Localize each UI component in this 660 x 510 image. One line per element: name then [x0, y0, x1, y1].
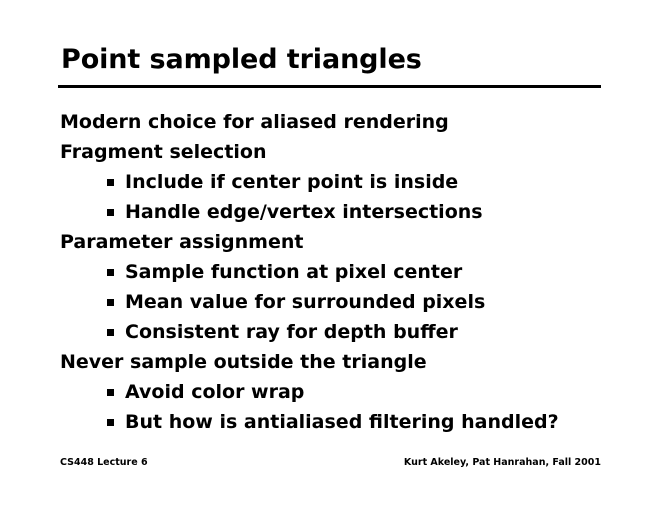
body-item-level1: Parameter assignment — [0, 227, 660, 257]
slide-canvas: Point sampled triangles Modern choice fo… — [0, 0, 660, 510]
bullet-square-icon — [107, 269, 114, 276]
footer-lecture-label: CS448 Lecture 6 — [60, 455, 148, 471]
bullet-square-icon — [107, 419, 114, 426]
body-item-level2: Handle edge/vertex intersections — [0, 197, 660, 227]
bullet-square-icon — [107, 389, 114, 396]
slide-title: Point sampled triangles — [61, 43, 422, 77]
bullet-square-icon — [107, 329, 114, 336]
body-item-text: But how is antialiased filtering handled… — [125, 407, 559, 437]
body-item-text: Consistent ray for depth buffer — [125, 317, 458, 347]
body-item-level1: Never sample outside the triangle — [0, 347, 660, 377]
body-item-text: Modern choice for aliased rendering — [60, 107, 449, 137]
body-item-level2: But how is antialiased filtering handled… — [0, 407, 660, 437]
slide-footer: CS448 Lecture 6 Kurt Akeley, Pat Hanraha… — [60, 455, 601, 471]
body-item-level2: Include if center point is inside — [0, 167, 660, 197]
body-item-level2: Sample function at pixel center — [0, 257, 660, 287]
title-underline-rule — [58, 85, 601, 88]
body-item-text: Avoid color wrap — [125, 377, 304, 407]
body-item-level1: Modern choice for aliased rendering — [0, 107, 660, 137]
body-item-text: Handle edge/vertex intersections — [125, 197, 483, 227]
body-item-text: Mean value for surrounded pixels — [125, 287, 485, 317]
footer-authors-label: Kurt Akeley, Pat Hanrahan, Fall 2001 — [404, 455, 601, 471]
body-item-level2: Avoid color wrap — [0, 377, 660, 407]
body-item-text: Never sample outside the triangle — [60, 347, 427, 377]
bullet-square-icon — [107, 209, 114, 216]
body-item-level1: Fragment selection — [0, 137, 660, 167]
body-item-text: Include if center point is inside — [125, 167, 458, 197]
body-item-text: Sample function at pixel center — [125, 257, 462, 287]
body-item-level2: Consistent ray for depth buffer — [0, 317, 660, 347]
bullet-square-icon — [107, 299, 114, 306]
slide-body: Modern choice for aliased renderingFragm… — [0, 107, 660, 437]
bullet-square-icon — [107, 179, 114, 186]
body-item-level2: Mean value for surrounded pixels — [0, 287, 660, 317]
body-item-text: Parameter assignment — [60, 227, 303, 257]
body-item-text: Fragment selection — [60, 137, 267, 167]
